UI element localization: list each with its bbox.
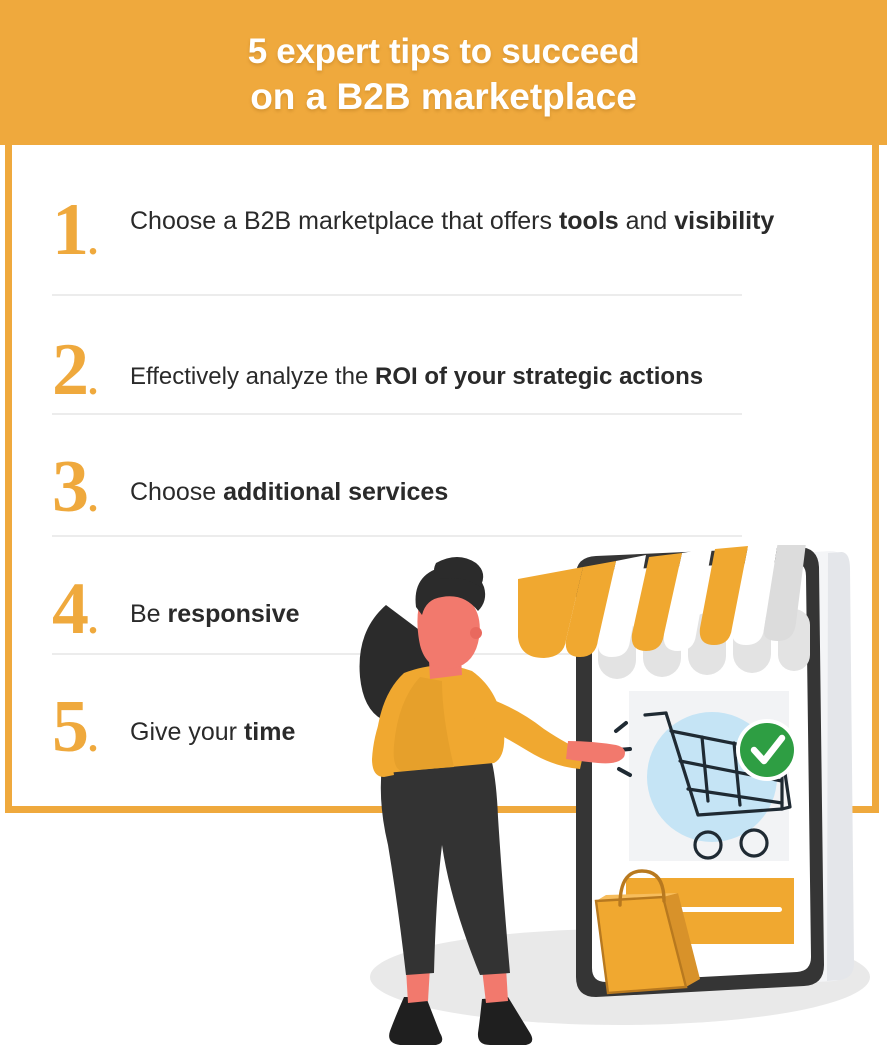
awning-white-stripes bbox=[598, 545, 778, 657]
list-divider-3 bbox=[52, 535, 742, 537]
tip-text-plain: Choose a B2B marketplace that offers bbox=[130, 207, 559, 235]
list-item-tip-1: 1. Choose a B2B marketplace that offers … bbox=[52, 193, 852, 278]
tip-text-emphasis: responsive bbox=[168, 600, 300, 628]
storefront-awning bbox=[518, 545, 810, 679]
tip-text-5: Give your time bbox=[130, 690, 295, 750]
infographic-poster: 5 expert tips to succeed on a B2B market… bbox=[0, 0, 887, 1055]
tip-text-plain: Choose bbox=[130, 478, 223, 506]
tip-text-2: Effectively analyze the ROI of your stra… bbox=[130, 333, 703, 395]
page-title-line-1: 5 expert tips to succeed bbox=[248, 30, 640, 74]
tip-text-plain: Effectively analyze the bbox=[130, 363, 375, 390]
phone-back-edge bbox=[827, 552, 854, 981]
tip-number-3: 3. bbox=[52, 450, 130, 535]
list-item-tip-3: 3. Choose additional services bbox=[52, 450, 852, 535]
tip-number-5-dot: . bbox=[88, 715, 97, 760]
tip-text-emphasis: tools bbox=[559, 207, 619, 235]
list-item-tip-2: 2. Effectively analyze the ROI of your s… bbox=[52, 333, 852, 418]
tip-number-3-value: 3 bbox=[52, 446, 88, 528]
tip-number-2-dot: . bbox=[88, 358, 97, 403]
tip-text-4: Be responsive bbox=[130, 572, 300, 632]
list-divider-2 bbox=[52, 413, 742, 415]
tip-number-2-value: 2 bbox=[52, 329, 88, 411]
tip-number-4-value: 4 bbox=[52, 568, 88, 650]
tip-text-plain: and bbox=[619, 207, 675, 235]
trousers bbox=[381, 749, 510, 975]
tip-number-3-dot: . bbox=[88, 475, 97, 520]
ear bbox=[470, 627, 482, 639]
tip-text-3: Choose additional services bbox=[130, 450, 448, 510]
header-banner: 5 expert tips to succeed on a B2B market… bbox=[0, 0, 887, 145]
page-title-line-2: on a B2B marketplace bbox=[250, 74, 637, 120]
tip-number-2: 2. bbox=[52, 333, 130, 418]
tip-text-emphasis: additional services bbox=[223, 478, 448, 506]
tip-text-plain: Give your bbox=[130, 718, 244, 746]
list-divider-1 bbox=[52, 294, 742, 296]
tip-text-emphasis: ROI of your strategic actions bbox=[375, 363, 703, 390]
tip-text-emphasis: time bbox=[244, 718, 295, 746]
tip-number-5-value: 5 bbox=[52, 686, 88, 768]
tip-number-1-value: 1 bbox=[52, 189, 88, 271]
tip-number-4-dot: . bbox=[88, 597, 97, 642]
tip-number-1: 1. bbox=[52, 193, 130, 278]
hero-illustration bbox=[330, 545, 887, 1055]
tip-text-emphasis: visibility bbox=[674, 207, 774, 235]
tip-number-5: 5. bbox=[52, 690, 130, 775]
green-check-badge bbox=[736, 719, 798, 781]
tip-number-4: 4. bbox=[52, 572, 130, 657]
tip-number-1-dot: . bbox=[88, 218, 97, 263]
header-title-block: 5 expert tips to succeed on a B2B market… bbox=[0, 0, 887, 145]
tip-text-1: Choose a B2B marketplace that offers too… bbox=[130, 193, 774, 239]
tip-text-plain: Be bbox=[130, 600, 168, 628]
